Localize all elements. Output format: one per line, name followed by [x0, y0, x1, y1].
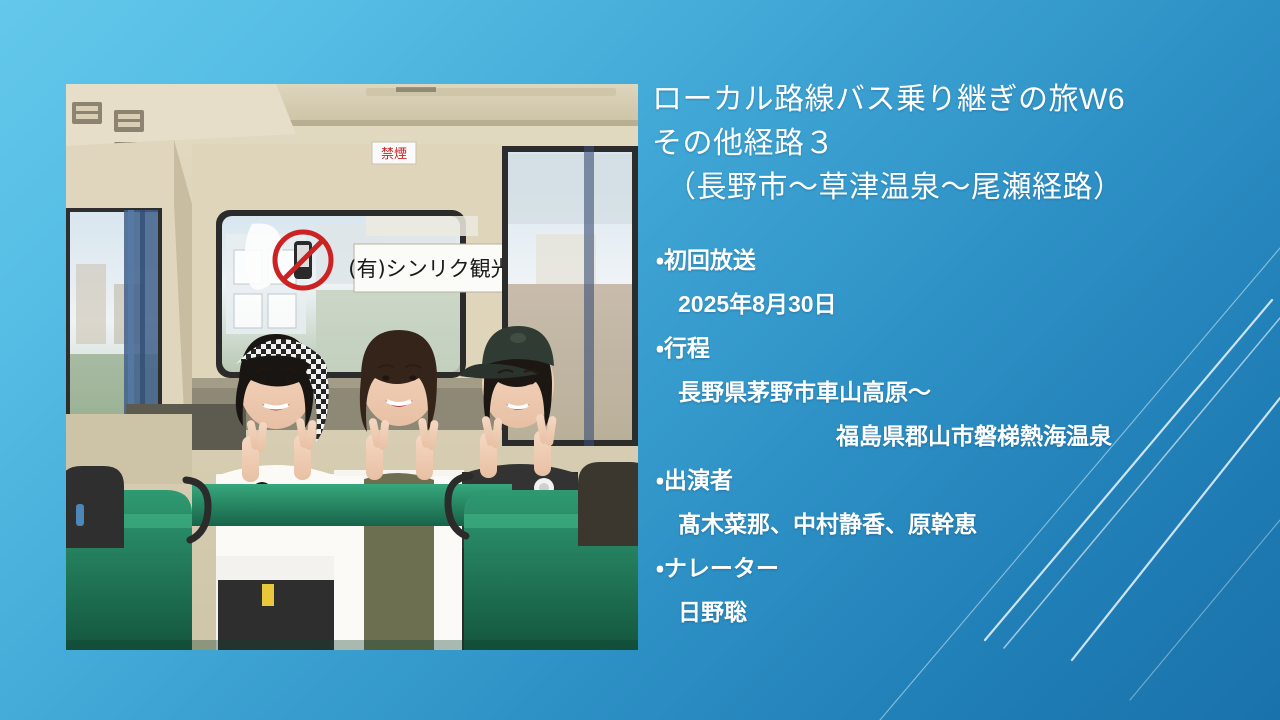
route-label: ・行程: [652, 326, 1252, 370]
cast-label: ・出演者: [652, 458, 1252, 502]
slide-root: 禁煙 (有)シンリク観光: [0, 0, 1280, 720]
cast-names: 髙木菜那、中村静香、原幹恵: [652, 502, 1252, 546]
route-from: 長野県茅野市車山高原〜: [652, 370, 1252, 414]
narrator-name: 日野聡: [652, 590, 1252, 634]
svg-text:(有)シンリク観光: (有)シンリク観光: [348, 257, 511, 281]
episode-photo: 禁煙 (有)シンリク観光: [66, 84, 638, 650]
broadcast-label: ・初回放送: [652, 238, 1252, 282]
svg-text:禁煙: 禁煙: [381, 147, 407, 162]
title-line-3: （長野市〜草津温泉〜尾瀬経路）: [652, 166, 1252, 210]
title-line-1: ローカル路線バス乗り継ぎの旅W6: [652, 78, 1252, 122]
bus-interior-illustration: 禁煙 (有)シンリク観光: [66, 84, 638, 650]
details-block: ・初回放送 2025年8月30日 ・行程 長野県茅野市車山高原〜 福島県郡山市磐…: [652, 238, 1252, 634]
title-line-2: その他経路３: [652, 122, 1252, 166]
slide-title: ローカル路線バス乗り継ぎの旅W6 その他経路３ （長野市〜草津温泉〜尾瀬経路）: [652, 78, 1252, 210]
info-text-column: ローカル路線バス乗り継ぎの旅W6 その他経路３ （長野市〜草津温泉〜尾瀬経路） …: [652, 78, 1252, 634]
narrator-label: ・ナレーター: [652, 546, 1252, 590]
route-to: 福島県郡山市磐梯熱海温泉: [652, 414, 1252, 458]
broadcast-date: 2025年8月30日: [652, 282, 1252, 326]
